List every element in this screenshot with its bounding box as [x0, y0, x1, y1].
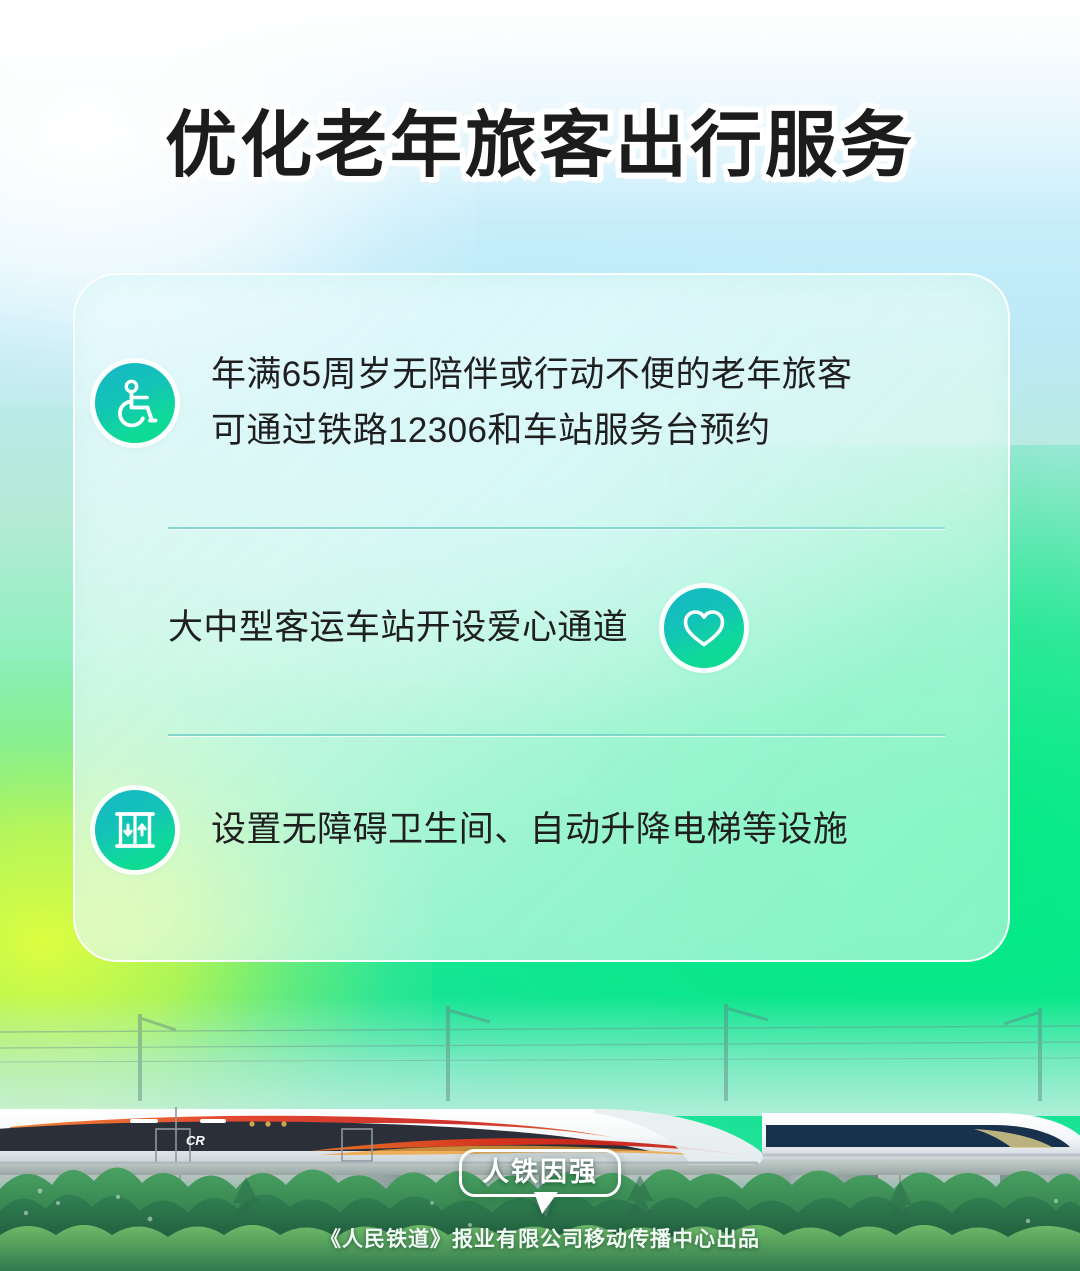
catenary-wires-icon [0, 996, 1080, 1116]
info-row-1-line-2: 可通过铁路12306和车站服务台预约 [211, 403, 853, 459]
footer: 人铁因强 《人民铁道》报业有限公司移动传播中心出品 [0, 1149, 1080, 1253]
info-row-1-text: 年满65周岁无陪伴或行动不便的老年旅客 可通过铁路12306和车站服务台预约 [211, 347, 853, 459]
wheelchair-accessible-icon [95, 363, 175, 443]
info-row-3: 设置无障碍卫生间、自动升降电梯等设施 [95, 790, 848, 870]
info-row-1: 年满65周岁无陪伴或行动不便的老年旅客 可通过铁路12306和车站服务台预约 [95, 347, 853, 459]
info-row-1-line-1: 年满65周岁无陪伴或行动不便的老年旅客 [211, 347, 853, 403]
heart-icon [664, 588, 744, 668]
brand-logo-text: 人铁因强 [482, 1157, 598, 1187]
elevator-icon [95, 790, 175, 870]
info-row-2-line-1: 大中型客运车站开设爱心通道 [168, 600, 628, 656]
card-divider-1 [168, 527, 945, 529]
info-row-2-text: 大中型客运车站开设爱心通道 [168, 600, 628, 656]
info-row-3-line-1: 设置无障碍卫生间、自动升降电梯等设施 [211, 802, 848, 858]
footer-credit: 《人民铁道》报业有限公司移动传播中心出品 [0, 1223, 1080, 1253]
card-divider-2 [168, 734, 945, 736]
cursor-icon [535, 1199, 555, 1219]
page-title: 优化老年旅客出行服务 [0, 86, 1080, 191]
brand-logo: 人铁因强 [459, 1149, 621, 1197]
info-row-2: 大中型客运车站开设爱心通道 [168, 588, 744, 668]
poster-root: 优化老年旅客出行服务 年满65周岁无陪伴或行动不便的老年旅客 可通过铁路1230… [0, 0, 1080, 1271]
info-row-3-text: 设置无障碍卫生间、自动升降电梯等设施 [211, 802, 848, 858]
